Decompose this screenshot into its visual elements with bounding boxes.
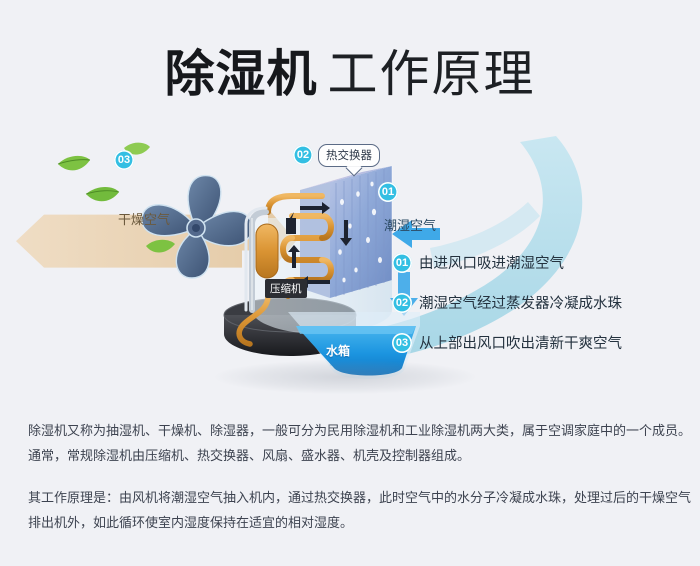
diagram-badge-02: 02: [293, 145, 313, 165]
step-badge-02: 02: [392, 293, 412, 313]
step-item-03: 03 从上部出风口吹出清新干爽空气: [392, 332, 682, 353]
step-text-03: 从上部出风口吹出清新干爽空气: [419, 332, 622, 353]
paragraph-2-line-1: 其工作原理是：由风机将潮湿空气抽入机内，通过热交换器，此时空气中的水分子冷凝成水…: [28, 485, 676, 510]
page-title-secondary: 工作原理: [328, 46, 536, 102]
paragraph-2: 其工作原理是：由风机将潮湿空气抽入机内，通过热交换器，此时空气中的水分子冷凝成水…: [28, 485, 676, 535]
step-text-02: 潮湿空气经过蒸发器冷凝成水珠: [419, 292, 622, 313]
paragraph-1-line-1: 除湿机又称为抽湿机、干燥机、除湿器，一般可分为民用除湿机和工业除湿机两大类，属于…: [28, 418, 676, 443]
water-tank-tag: 水箱: [326, 342, 350, 359]
compressor-tag: 压缩机: [265, 279, 307, 298]
step-item-02: 02 潮湿空气经过蒸发器冷凝成水珠: [392, 292, 682, 313]
step-item-01: 01 由进风口吸进潮湿空气: [392, 252, 682, 273]
diagram-badge-03: 03: [114, 150, 134, 170]
diagram-badge-01: 01: [378, 182, 398, 202]
diagram-label-humid-air: 潮湿空气: [384, 215, 436, 234]
step-text-01: 由进风口吸进潮湿空气: [419, 252, 564, 273]
page-title-primary: 除湿机: [165, 46, 318, 102]
diagram-label-dry-air: 干燥空气: [118, 209, 170, 228]
steps-list: 01 由进风口吸进潮湿空气 02 潮湿空气经过蒸发器冷凝成水珠 03 从上部出风…: [392, 252, 682, 372]
paragraph-2-line-2: 排出机外，如此循环使室内湿度保持在适宜的相对湿度。: [28, 510, 676, 535]
step-badge-03: 03: [392, 333, 412, 353]
step-badge-01: 01: [392, 253, 412, 273]
body-copy: 除湿机又称为抽湿机、干燥机、除湿器，一般可分为民用除湿机和工业除湿机两大类，属于…: [28, 418, 676, 535]
paragraph-1: 除湿机又称为抽湿机、干燥机、除湿器，一般可分为民用除湿机和工业除湿机两大类，属于…: [28, 418, 676, 468]
page-title: 除湿机工作原理: [0, 34, 700, 106]
page-root: 除湿机工作原理: [0, 0, 700, 566]
paragraph-1-line-2: 通常，常规除湿机由压缩机、热交换器、风扇、盛水器、机壳及控制器组成。: [28, 443, 676, 468]
